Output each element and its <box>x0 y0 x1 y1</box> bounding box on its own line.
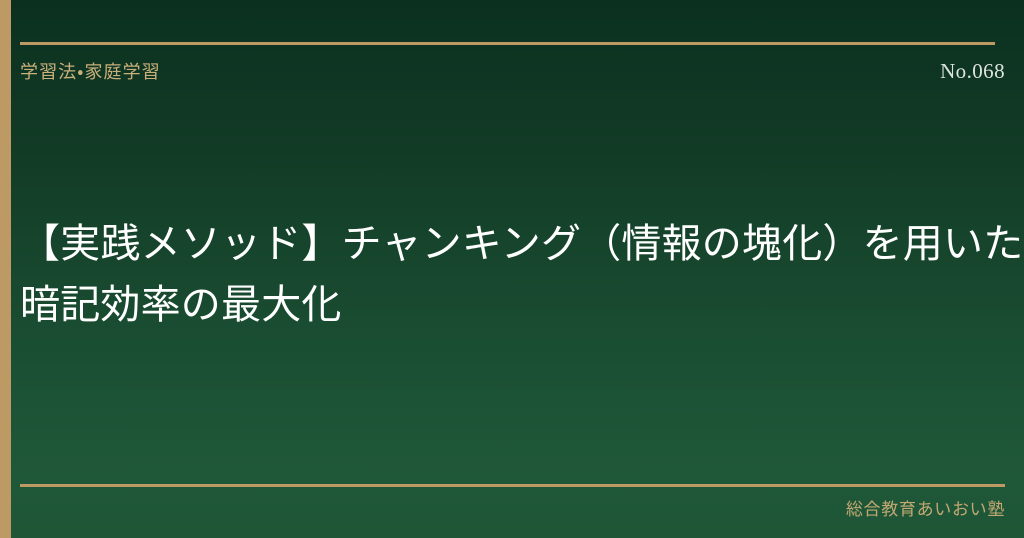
left-accent-bar <box>0 0 11 538</box>
page-title: 【実践メソッド】チャンキング（情報の塊化）を用いた暗記効率の最大化 <box>20 214 1024 336</box>
title-block: 【実践メソッド】チャンキング（情報の塊化）を用いた暗記効率の最大化 <box>20 214 1024 336</box>
header-divider-rule <box>20 42 995 45</box>
slide-header: 学習法・家庭学習 No.068 <box>20 58 1005 84</box>
brand-label: 総合教育あいおい塾 <box>846 500 1005 519</box>
category-label: 学習法・家庭学習 <box>20 58 161 84</box>
slide-canvas: 学習法・家庭学習 No.068 【実践メソッド】チャンキング（情報の塊化）を用い… <box>0 0 1024 538</box>
slide-number-label: No.068 <box>940 59 1005 84</box>
footer-divider-rule <box>20 484 1005 487</box>
slide-footer: 総合教育あいおい塾 <box>20 495 1005 520</box>
